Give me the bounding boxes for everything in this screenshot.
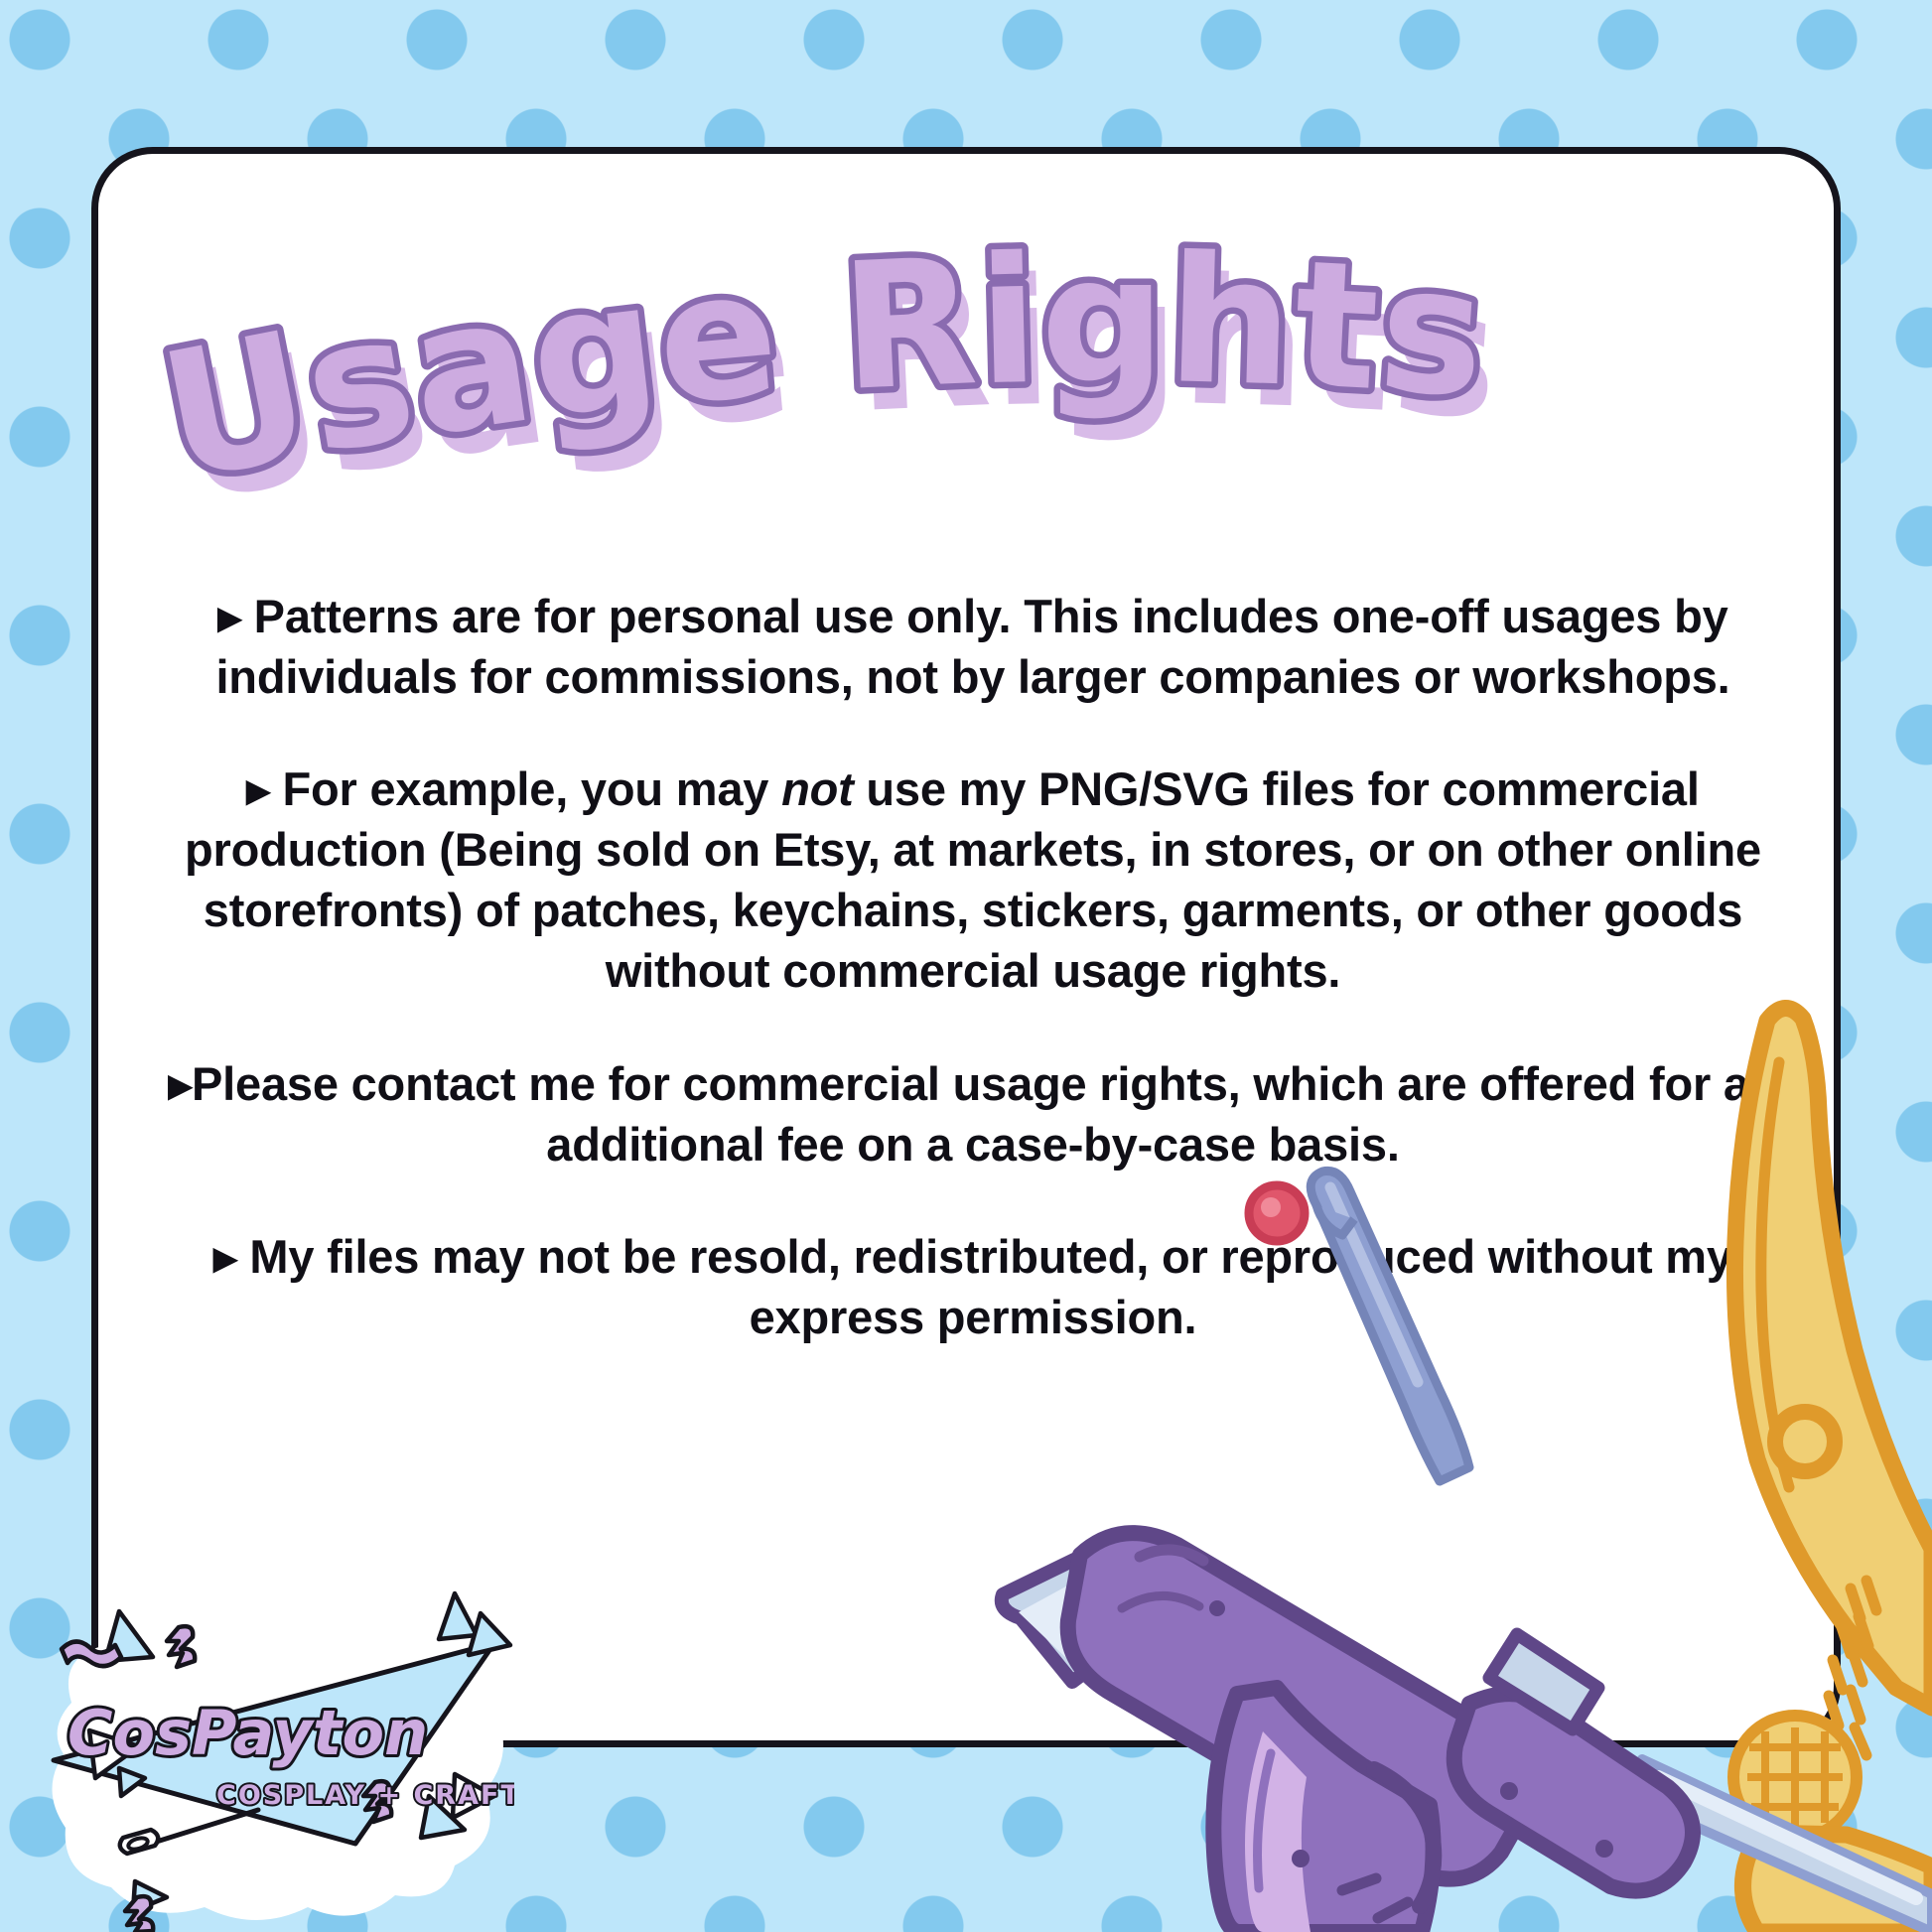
logo-tagline-text: COSPLAY + CRAFTING: [216, 1780, 514, 1811]
emphasis-not: not: [781, 762, 853, 815]
brand-logo: CosPayton COSPLAY + CRAFTING: [28, 1584, 514, 1932]
paragraph-text: ▸ My files may not be resold, redistribu…: [213, 1230, 1732, 1343]
logo-brand-text: CosPayton: [68, 1697, 428, 1769]
poster-canvas: Usage Rights Usage Rights ▸ Patterns are…: [0, 0, 1932, 1932]
paragraph-contact-for-rights: ▸Please contact me for commercial usage …: [159, 1053, 1787, 1174]
usage-rights-body: ▸ Patterns are for personal use only. Th…: [159, 586, 1787, 1347]
paragraph-no-resale: ▸ My files may not be resold, redistribu…: [159, 1226, 1787, 1347]
paragraph-text-part-1: ▸ For example, you may: [246, 762, 781, 815]
paragraph-text: ▸ Patterns are for personal use only. Th…: [215, 590, 1729, 703]
paragraph-text: ▸Please contact me for commercial usage …: [169, 1057, 1778, 1171]
paragraph-commercial-production: ▸ For example, you may not use my PNG/SV…: [159, 759, 1787, 1001]
paragraph-personal-use: ▸ Patterns are for personal use only. Th…: [159, 586, 1787, 707]
